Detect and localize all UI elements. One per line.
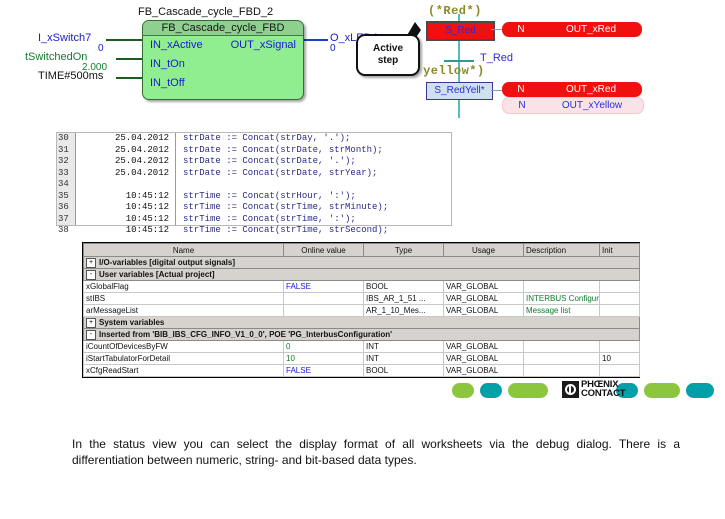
- code-line-number: 33: [58, 168, 74, 180]
- cell-name[interactable]: iCountOfDevicesByFW: [84, 341, 284, 353]
- fb-ports: IN_xActive IN_tOn IN_tOff OUT_xSignal: [143, 36, 303, 98]
- code-line-number: 34: [58, 179, 74, 191]
- logo-dot-5: [686, 383, 714, 398]
- code-online-value: 25.04.2012: [89, 145, 169, 157]
- code-line[interactable]: 3325.04.2012strDate := Concat(strDate, s…: [57, 168, 451, 180]
- sfc-step-inactive[interactable]: S_RedYell*: [426, 82, 493, 100]
- table-header-row: Name Online value Type Usage Description…: [84, 244, 640, 257]
- action-qualifier: N: [503, 98, 541, 113]
- code-line-number: 30: [58, 133, 74, 145]
- page-root: FB_Cascade_cycle_FBD_2 I_xSwitch7 0 tSwi…: [0, 0, 725, 519]
- code-statement: strTime := Concat(strHour, ':');: [183, 191, 356, 203]
- fb-input-port-1[interactable]: IN_tOn: [150, 58, 185, 70]
- cell-usage[interactable]: VAR_GLOBAL: [444, 353, 524, 365]
- collapse-icon[interactable]: -: [86, 270, 96, 280]
- cell-type[interactable]: INT: [364, 353, 444, 365]
- table-group-row[interactable]: +System variables: [84, 317, 640, 329]
- cell-description[interactable]: [524, 353, 600, 365]
- expand-icon[interactable]: +: [86, 318, 96, 328]
- cell-init[interactable]: [600, 365, 640, 377]
- code-online-value: 10:45:12: [89, 202, 169, 214]
- cell-type[interactable]: BOOL: [364, 365, 444, 377]
- table-group-row[interactable]: -User variables [Actual project]: [84, 269, 640, 281]
- code-online-value: 10:45:12: [89, 225, 169, 237]
- table-row[interactable]: xCfgReadStartFALSEBOOLVAR_GLOBAL: [84, 365, 640, 377]
- group-label: User variables [Actual project]: [99, 270, 215, 279]
- code-statement: strDate := Concat(strDate, strYear);: [183, 168, 377, 180]
- cell-usage[interactable]: VAR_GLOBAL: [444, 281, 524, 293]
- cell-description[interactable]: [524, 365, 600, 377]
- fbd-input-signal-1: tSwitchedOn: [25, 51, 87, 63]
- table-row[interactable]: stIBSIBS_AR_1_51 ...VAR_GLOBALINTERBUS C…: [84, 293, 640, 305]
- callout-line-1: Active: [358, 43, 418, 55]
- code-online-value: 25.04.2012: [89, 133, 169, 145]
- cell-init[interactable]: 10: [600, 353, 640, 365]
- code-statement: strTime := Concat(strTime, ':');: [183, 214, 356, 226]
- code-online-value: 10:45:12: [89, 214, 169, 226]
- cell-name[interactable]: arMessageList: [84, 305, 284, 317]
- cell-init[interactable]: [600, 281, 640, 293]
- table-group-row[interactable]: -Inserted from 'BIB_IBS_CFG_INFO_V1_0_0'…: [84, 329, 640, 341]
- fb-output-port-0[interactable]: OUT_xSignal: [231, 39, 296, 51]
- code-online-value: 25.04.2012: [89, 168, 169, 180]
- cell-description[interactable]: [524, 341, 600, 353]
- caption-text: In the status view you can select the di…: [72, 436, 680, 468]
- cell-online-value[interactable]: FALSE: [284, 365, 364, 377]
- cell-online-value[interactable]: 10: [284, 353, 364, 365]
- code-statement: strDate := Concat(strDay, '.');: [183, 133, 350, 145]
- col-header-type[interactable]: Type: [364, 244, 444, 257]
- callout-line-2: step: [358, 55, 418, 67]
- group-label: Inserted from 'BIB_IBS_CFG_INFO_V1_0_0',…: [99, 330, 392, 339]
- col-header-description[interactable]: Description: [524, 244, 600, 257]
- cell-usage[interactable]: VAR_GLOBAL: [444, 293, 524, 305]
- code-online-value: 10:45:12: [89, 191, 169, 203]
- fbd-input-signal-0: I_xSwitch7: [38, 32, 91, 44]
- cell-online-value[interactable]: [284, 305, 364, 317]
- code-line[interactable]: 3610:45:12strTime := Concat(strTime, str…: [57, 202, 451, 214]
- code-line-number: 36: [58, 202, 74, 214]
- cell-usage[interactable]: VAR_GLOBAL: [444, 341, 524, 353]
- table-row[interactable]: arMessageListAR_1_10_Mes...VAR_GLOBALMes…: [84, 305, 640, 317]
- cell-type[interactable]: AR_1_10_Mes...: [364, 305, 444, 317]
- col-header-init[interactable]: Init: [600, 244, 640, 257]
- code-statement: strDate := Concat(strDate, strMonth);: [183, 145, 383, 157]
- cell-online-value[interactable]: 0: [284, 341, 364, 353]
- action-qualifier: N: [502, 22, 540, 37]
- logo-dot-1: [480, 383, 502, 398]
- cell-type[interactable]: INT: [364, 341, 444, 353]
- logo-dot-0: [452, 383, 474, 398]
- cell-name[interactable]: stIBS: [84, 293, 284, 305]
- sfc-transition-label: T_Red: [480, 52, 513, 64]
- group-label: System variables: [99, 318, 164, 327]
- cell-type[interactable]: IBS_AR_1_51 ...: [364, 293, 444, 305]
- cell-description[interactable]: [524, 281, 600, 293]
- code-line[interactable]: 3510:45:12strTime := Concat(strHour, ':'…: [57, 191, 451, 203]
- action-name: OUT_xRed: [540, 82, 642, 97]
- logo-wordmark: PHŒNIX CONTACT: [581, 381, 625, 398]
- cell-description[interactable]: Message list: [524, 305, 600, 317]
- table-body: +I/O-variables [digital output signals]-…: [84, 257, 640, 377]
- fbd-output-value-0: 0: [330, 43, 336, 54]
- cell-online-value[interactable]: [284, 293, 364, 305]
- function-block[interactable]: FB_Cascade_cycle_FBD IN_xActive IN_tOn I…: [142, 20, 304, 100]
- cell-type[interactable]: BOOL: [364, 281, 444, 293]
- table-row[interactable]: iCountOfDevicesByFW0INTVAR_GLOBAL: [84, 341, 640, 353]
- cell-init[interactable]: [600, 305, 640, 317]
- code-line[interactable]: 3025.04.2012strDate := Concat(strDay, '.…: [57, 133, 451, 145]
- code-statement: strTime := Concat(strTime, strSecond);: [183, 225, 388, 237]
- code-listing[interactable]: 3025.04.2012strDate := Concat(strDay, '.…: [56, 132, 452, 226]
- action-name: OUT_xRed: [540, 22, 642, 37]
- table-group-row[interactable]: +I/O-variables [digital output signals]: [84, 257, 640, 269]
- expand-icon[interactable]: +: [86, 258, 96, 268]
- cell-name[interactable]: iStartTabulatorForDetail: [84, 353, 284, 365]
- logo-line-2: CONTACT: [581, 390, 625, 399]
- code-line[interactable]: 34: [57, 179, 451, 191]
- wire-in-0: [106, 39, 144, 41]
- logo-dot-2: [508, 383, 548, 398]
- cell-usage[interactable]: VAR_GLOBAL: [444, 305, 524, 317]
- fb-input-port-0[interactable]: IN_xActive: [150, 39, 203, 51]
- code-statement: strTime := Concat(strTime, strMinute);: [183, 202, 388, 214]
- fb-instance-name: FB_Cascade_cycle_FBD_2: [138, 6, 338, 18]
- sfc-action2-yellow-off[interactable]: N OUT_xYellow: [502, 97, 644, 114]
- phoenix-emblem-icon: [562, 381, 579, 398]
- code-rows: 3025.04.2012strDate := Concat(strDay, '.…: [57, 133, 451, 237]
- callout-active-step: Active step: [356, 34, 420, 76]
- code-line[interactable]: 3225.04.2012strDate := Concat(strDate, '…: [57, 156, 451, 168]
- wire-in-1: [116, 58, 144, 60]
- fb-title: FB_Cascade_cycle_FBD: [143, 21, 303, 36]
- action-qualifier: N: [502, 82, 540, 97]
- table-row[interactable]: xGlobalFlagFALSEBOOLVAR_GLOBAL: [84, 281, 640, 293]
- code-line[interactable]: 3125.04.2012strDate := Concat(strDate, s…: [57, 145, 451, 157]
- cell-name[interactable]: xCfgReadStart: [84, 365, 284, 377]
- code-line-number: 37: [58, 214, 74, 226]
- code-line[interactable]: 3810:45:12strTime := Concat(strTime, str…: [57, 225, 451, 237]
- collapse-icon[interactable]: -: [86, 330, 96, 340]
- action-link-0: [491, 29, 502, 30]
- table-row[interactable]: iStartTabulatorForDetail10INTVAR_GLOBAL1…: [84, 353, 640, 365]
- variables-table[interactable]: Name Online value Type Usage Description…: [82, 242, 640, 378]
- col-header-name[interactable]: Name: [84, 244, 284, 257]
- code-line[interactable]: 3710:45:12strTime := Concat(strTime, ':'…: [57, 214, 451, 226]
- sfc-action2-red-on[interactable]: N OUT_xRed: [502, 82, 642, 97]
- fbd-input-signal-2: TIME#500ms: [38, 70, 103, 82]
- cell-init[interactable]: [600, 293, 640, 305]
- action-link-1: [491, 90, 502, 91]
- wire-in-2: [116, 77, 144, 79]
- sfc-step-active[interactable]: S_Red: [426, 21, 495, 41]
- sfc-action-red-on[interactable]: N OUT_xRed: [502, 22, 642, 37]
- action-name: OUT_xYellow: [541, 98, 643, 113]
- phoenix-contact-logo: PHŒNIX CONTACT: [452, 381, 714, 401]
- code-line-number: 32: [58, 156, 74, 168]
- sfc-transition-bar[interactable]: [444, 60, 474, 62]
- cell-name[interactable]: xGlobalFlag: [84, 281, 284, 293]
- logo-dot-4: [644, 383, 680, 398]
- code-line-number: 38: [58, 225, 74, 237]
- code-online-value: 25.04.2012: [89, 156, 169, 168]
- col-header-online[interactable]: Online value: [284, 244, 364, 257]
- fbd-input-value-0: 0: [98, 43, 104, 54]
- fb-input-port-2[interactable]: IN_tOff: [150, 77, 185, 89]
- code-line-number: 35: [58, 191, 74, 203]
- cell-online-value[interactable]: FALSE: [284, 281, 364, 293]
- col-header-usage[interactable]: Usage: [444, 244, 524, 257]
- fbd-worksheet: FB_Cascade_cycle_FBD_2 I_xSwitch7 0 tSwi…: [0, 0, 340, 125]
- cell-usage[interactable]: VAR_GLOBAL: [444, 365, 524, 377]
- code-line-number: 31: [58, 145, 74, 157]
- code-statement: strDate := Concat(strDate, '.');: [183, 156, 356, 168]
- group-label: I/O-variables [digital output signals]: [99, 258, 235, 267]
- logo-mark: PHŒNIX CONTACT: [562, 381, 625, 398]
- wire-out-0: [302, 39, 328, 41]
- cell-init[interactable]: [600, 341, 640, 353]
- sfc-comment-red: (*Red*): [428, 4, 482, 18]
- cell-description[interactable]: INTERBUS Configuratio...: [524, 293, 600, 305]
